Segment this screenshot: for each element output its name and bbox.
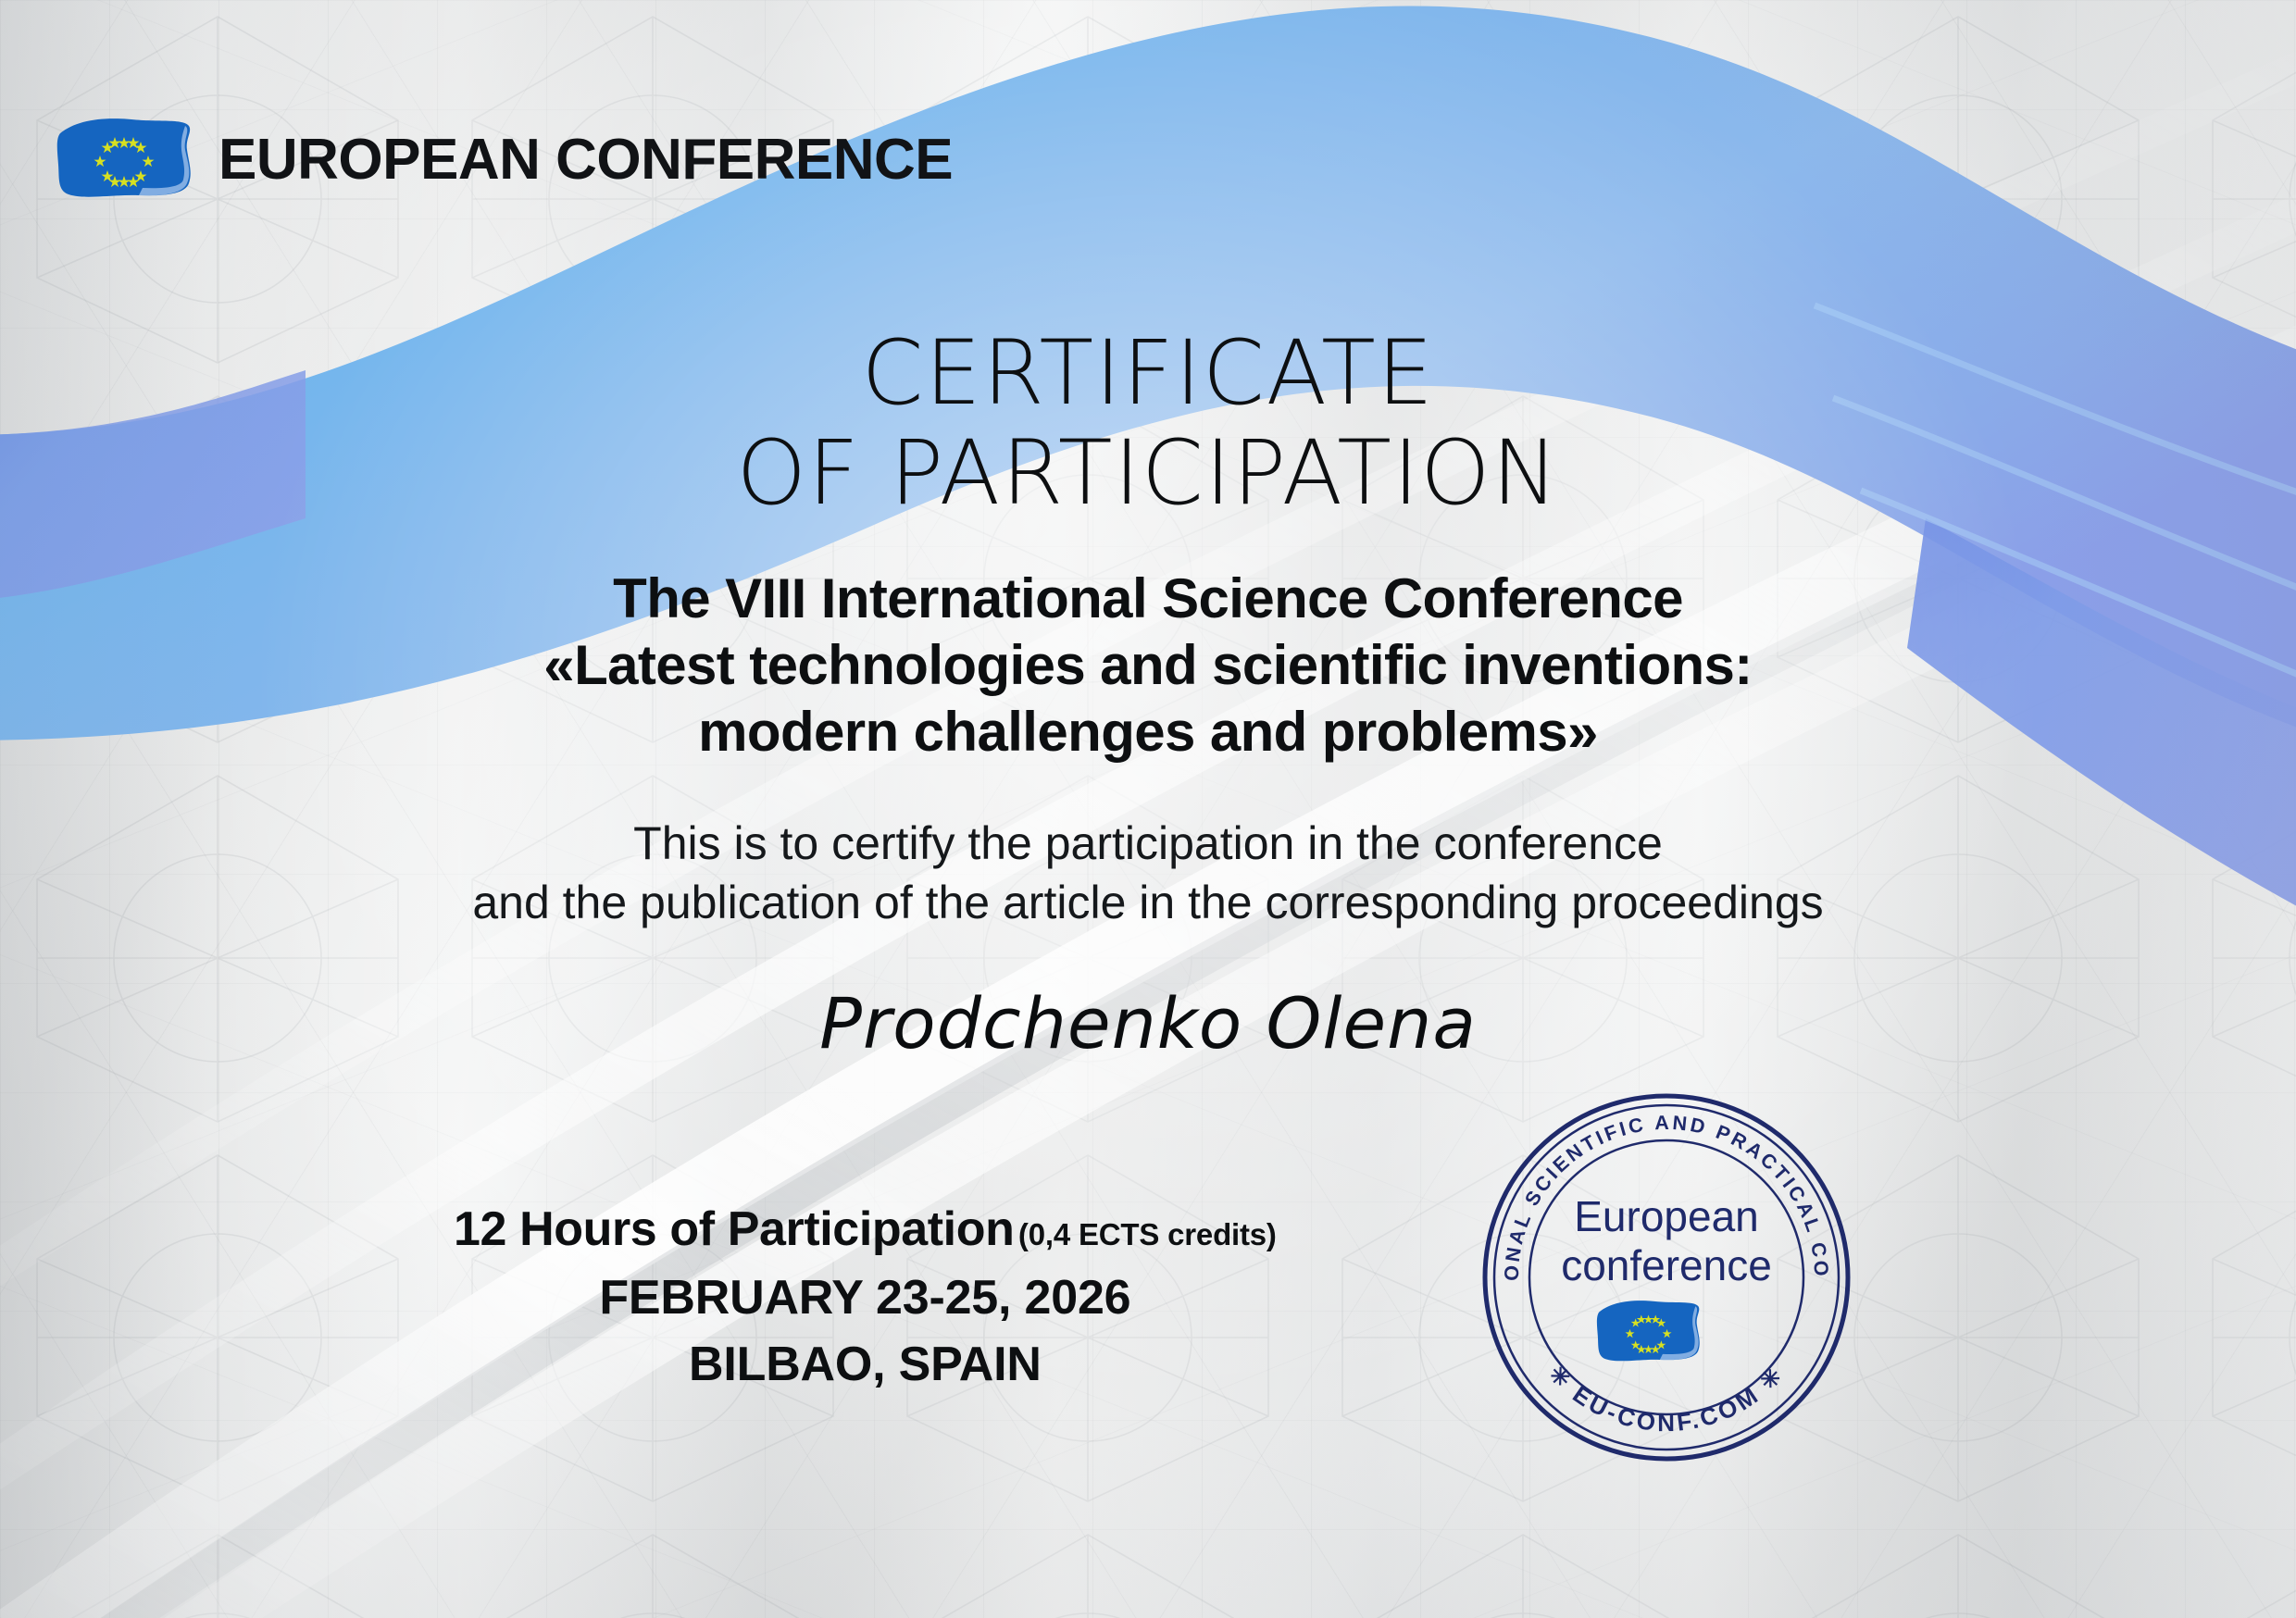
brand-title: EUROPEAN CONFERENCE [218, 127, 953, 193]
details-hours-row: 12 Hours of Participation (0,4 ECTS cred… [454, 1201, 1277, 1257]
conference-line-1: The VIII International Science Conferenc… [543, 566, 1752, 632]
certificate-title: CERTIFICATE OF PARTICIPATION [736, 324, 1559, 523]
hours-of-participation: 12 Hours of Participation [454, 1202, 1014, 1256]
title-line-2: OF PARTICIPATION [736, 424, 1559, 524]
ects-credits: (0,4 ECTS credits) [1018, 1217, 1277, 1251]
statement-line-2: and the publication of the article in th… [472, 873, 1823, 932]
seal-center-line-2: conference [1561, 1241, 1772, 1289]
official-seal: INTERNATIONAL SCIENTIFIC AND PRACTICAL C… [1481, 1092, 1852, 1462]
conference-date: FEBRUARY 23-25, 2026 [454, 1270, 1277, 1326]
brand-header: EUROPEAN CONFERENCE [54, 115, 953, 204]
eu-flag-icon [54, 115, 194, 204]
certification-statement: This is to certify the participation in … [472, 814, 1823, 932]
conference-name: The VIII International Science Conferenc… [543, 566, 1752, 765]
conference-line-2: «Latest technologies and scientific inve… [543, 632, 1752, 699]
title-line-1: CERTIFICATE [736, 324, 1559, 424]
participant-name: Prodchenko Olena [819, 982, 1477, 1064]
seal-center-line-1: European [1574, 1192, 1759, 1240]
conference-location: BILBAO, SPAIN [454, 1337, 1277, 1392]
participation-details: 12 Hours of Participation (0,4 ECTS cred… [454, 1201, 1277, 1392]
statement-line-1: This is to certify the participation in … [472, 814, 1823, 873]
certificate-page: EUROPEAN CONFERENCE CERTIFICATE OF PARTI… [0, 0, 2296, 1618]
conference-line-3: modern challenges and problems» [543, 699, 1752, 765]
seal-eu-flag-icon [1597, 1301, 1700, 1361]
